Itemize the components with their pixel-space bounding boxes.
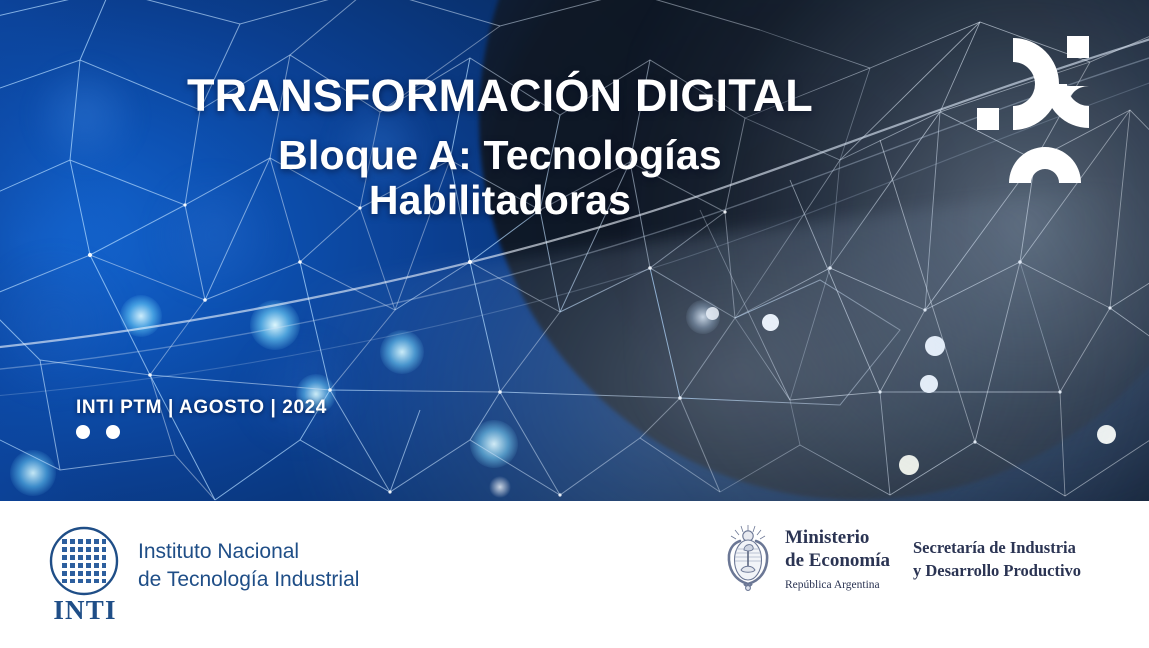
ministerio-text: Ministerio de Economía República Argenti… <box>785 527 890 594</box>
hero-banner: TRANSFORMACIÓN DIGITAL Bloque A: Tecnolo… <box>0 0 1149 501</box>
ministerio-line-1: Ministerio <box>785 527 890 550</box>
inti-institution-name: Instituto Nacional de Tecnología Industr… <box>138 538 359 594</box>
logo-arch <box>1009 147 1081 183</box>
secretaria-line-1: Secretaría de Industria <box>913 536 1081 559</box>
logo-quarter-arc-shape <box>1045 84 1089 128</box>
ministerio-line-2: de Economía <box>785 550 890 573</box>
inti-name-line-1: Instituto Nacional <box>138 538 359 566</box>
inti-wordmark: INTI <box>49 595 121 626</box>
page-title: TRANSFORMACIÓN DIGITAL Bloque A: Tecnolo… <box>0 72 1000 223</box>
title-line-2: Bloque A: Tecnologías <box>0 134 1000 177</box>
kicker-dot <box>76 425 90 439</box>
title-slide: TRANSFORMACIÓN DIGITAL Bloque A: Tecnolo… <box>0 0 1149 648</box>
inti-name-line-2: de Tecnología Industrial <box>138 566 359 594</box>
kicker-dots <box>76 425 120 439</box>
ministerio-logo-lockup: Ministerio de Economía República Argenti… <box>722 522 890 599</box>
argentina-coat-of-arms-icon <box>722 522 774 599</box>
title-line-3: Habilitadoras <box>0 179 1000 222</box>
title-line-1: TRANSFORMACIÓN DIGITAL <box>0 72 1000 120</box>
logo-square-small-right <box>1067 36 1089 58</box>
secretaria-text: Secretaría de Industria y Desarrollo Pro… <box>913 536 1081 583</box>
secretaria-line-2: y Desarrollo Productivo <box>913 559 1081 582</box>
inti-logo-lockup: INTI Instituto Nacional de Tecnología In… <box>48 525 359 625</box>
ministerio-line-3: República Argentina <box>785 577 890 594</box>
kicker-dot <box>106 425 120 439</box>
slide-kicker: INTI PTM | AGOSTO | 2024 <box>76 397 327 419</box>
footer-bar: INTI Instituto Nacional de Tecnología In… <box>0 501 1149 648</box>
inti-circle-grid-icon: INTI <box>48 525 120 625</box>
